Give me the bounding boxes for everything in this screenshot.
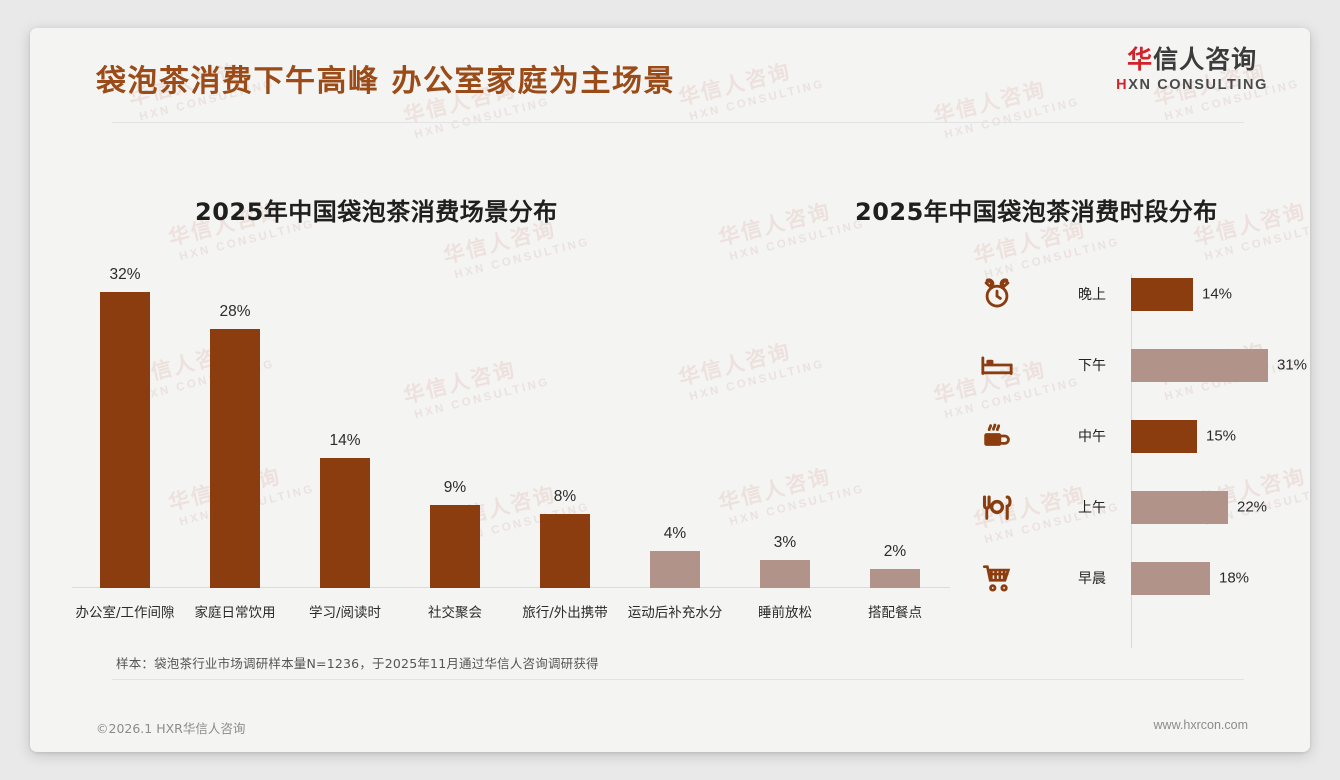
scenario-category-label: 办公室/工作间隙 [64, 601, 186, 621]
scenario-bar-value: 8% [510, 488, 620, 506]
scenario-category-label: 运动后补充水分 [614, 601, 736, 621]
scenario-bar[interactable] [320, 458, 370, 588]
scenario-bar-value: 32% [70, 266, 180, 284]
scenario-category-label: 家庭日常饮用 [174, 601, 296, 621]
scenario-bar-group[interactable]: 9%社交聚会 [400, 504, 510, 588]
shopping-cart-icon [980, 561, 1014, 595]
scenario-bar[interactable] [650, 551, 700, 588]
logo-chinese-text: 华信人咨询 [1116, 47, 1268, 73]
timeslot-category-label: 下午 [1078, 355, 1106, 375]
logo-cn-highlight: 华 [1127, 45, 1153, 74]
website-link[interactable]: www.hxrcon.com [1154, 718, 1248, 732]
timeslot-category-label: 上午 [1078, 497, 1106, 517]
copyright-text: ©2026.1 HXR华信人咨询 [96, 718, 245, 737]
timeslot-chart-title: 2025年中国袋泡茶消费时段分布 [855, 192, 1218, 227]
timeslot-bar[interactable] [1131, 278, 1193, 311]
scenario-bar-group[interactable]: 3%睡前放松 [730, 559, 840, 588]
scenario-chart-title: 2025年中国袋泡茶消费场景分布 [195, 192, 558, 227]
scenario-plot-area: 32%办公室/工作间隙28%家庭日常饮用14%学习/阅读时9%社交聚会8%旅行/… [70, 273, 950, 588]
timeslot-distribution-chart: 2025年中国袋泡茶消费时段分布 晚上14%下午31%中午15%上午22%早晨1… [970, 168, 1310, 668]
timeslot-bar[interactable] [1131, 491, 1228, 524]
page-title: 袋泡茶消费下午高峰 办公室家庭为主场景 [96, 56, 675, 100]
scenario-bar-value: 3% [730, 534, 840, 552]
scenario-bar-group[interactable]: 8%旅行/外出携带 [510, 513, 620, 588]
timeslot-bar[interactable] [1131, 562, 1210, 595]
scenario-bar-group[interactable]: 28%家庭日常饮用 [180, 328, 290, 588]
scenario-bar[interactable] [870, 569, 920, 588]
timeslot-bar-value: 18% [1219, 570, 1249, 587]
scenario-category-label: 社交聚会 [394, 601, 516, 621]
scenario-category-label: 睡前放松 [724, 601, 846, 621]
scenario-bar[interactable] [210, 329, 260, 588]
scenario-bar-value: 2% [840, 543, 950, 561]
timeslot-bar-row[interactable]: 上午22% [970, 487, 1310, 527]
timeslot-bar-value: 31% [1277, 357, 1307, 374]
scenario-bar-group[interactable]: 2%搭配餐点 [840, 568, 950, 588]
bed-icon [980, 348, 1014, 382]
company-logo: 华信人咨询 HXN CONSULTING [1116, 47, 1268, 93]
sample-footnote: 样本：袋泡茶行业市场调研样本量N=1236，于2025年11月通过华信人咨询调研… [116, 653, 599, 672]
timeslot-category-label: 晚上 [1078, 284, 1106, 304]
scenario-bar[interactable] [430, 505, 480, 588]
scenario-distribution-chart: 2025年中国袋泡茶消费场景分布 32%办公室/工作间隙28%家庭日常饮用14%… [30, 168, 970, 638]
timeslot-bar-value: 15% [1206, 428, 1236, 445]
scenario-bar-value: 4% [620, 525, 730, 543]
timeslot-plot-area: 晚上14%下午31%中午15%上午22%早晨18% [970, 268, 1310, 648]
timeslot-category-label: 早晨 [1078, 568, 1106, 588]
timeslot-bar[interactable] [1131, 349, 1268, 382]
logo-en-highlight: H [1116, 77, 1128, 93]
header-divider [112, 122, 1244, 123]
logo-english-text: HXN CONSULTING [1116, 77, 1268, 93]
scenario-bar[interactable] [100, 292, 150, 588]
timeslot-category-label: 中午 [1078, 426, 1106, 446]
scenario-category-label: 旅行/外出携带 [504, 601, 626, 621]
timeslot-bar-row[interactable]: 早晨18% [970, 558, 1310, 598]
scenario-bar[interactable] [760, 560, 810, 588]
scenario-bar-value: 14% [290, 432, 400, 450]
timeslot-bar-value: 22% [1237, 499, 1267, 516]
scenario-bar-group[interactable]: 14%学习/阅读时 [290, 457, 400, 588]
plate-cutlery-icon [980, 490, 1014, 524]
scenario-bar-group[interactable]: 4%运动后补充水分 [620, 550, 730, 588]
logo-en-rest: XN CONSULTING [1128, 77, 1268, 93]
scenario-bar-value: 9% [400, 479, 510, 497]
scenario-category-label: 搭配餐点 [834, 601, 956, 621]
timeslot-bar-row[interactable]: 中午15% [970, 416, 1310, 456]
slide-footer: ©2026.1 HXR华信人咨询 www.hxrcon.com [30, 708, 1310, 752]
logo-cn-rest: 信人咨询 [1153, 45, 1257, 74]
coffee-cup-icon [980, 419, 1014, 453]
scenario-category-label: 学习/阅读时 [284, 601, 406, 621]
alarm-clock-icon [980, 277, 1014, 311]
timeslot-bar[interactable] [1131, 420, 1197, 453]
slide-canvas: 华信人咨询HXN CONSULTING华信人咨询HXN CONSULTING华信… [30, 28, 1310, 752]
slide-header: 袋泡茶消费下午高峰 办公室家庭为主场景 华信人咨询 HXN CONSULTING [30, 28, 1310, 122]
timeslot-bar-value: 14% [1202, 286, 1232, 303]
scenario-bar-value: 28% [180, 303, 290, 321]
timeslot-bar-row[interactable]: 下午31% [970, 345, 1310, 385]
scenario-bar[interactable] [540, 514, 590, 588]
scenario-bar-group[interactable]: 32%办公室/工作间隙 [70, 291, 180, 588]
footer-divider [112, 679, 1244, 680]
timeslot-bar-row[interactable]: 晚上14% [970, 274, 1310, 314]
